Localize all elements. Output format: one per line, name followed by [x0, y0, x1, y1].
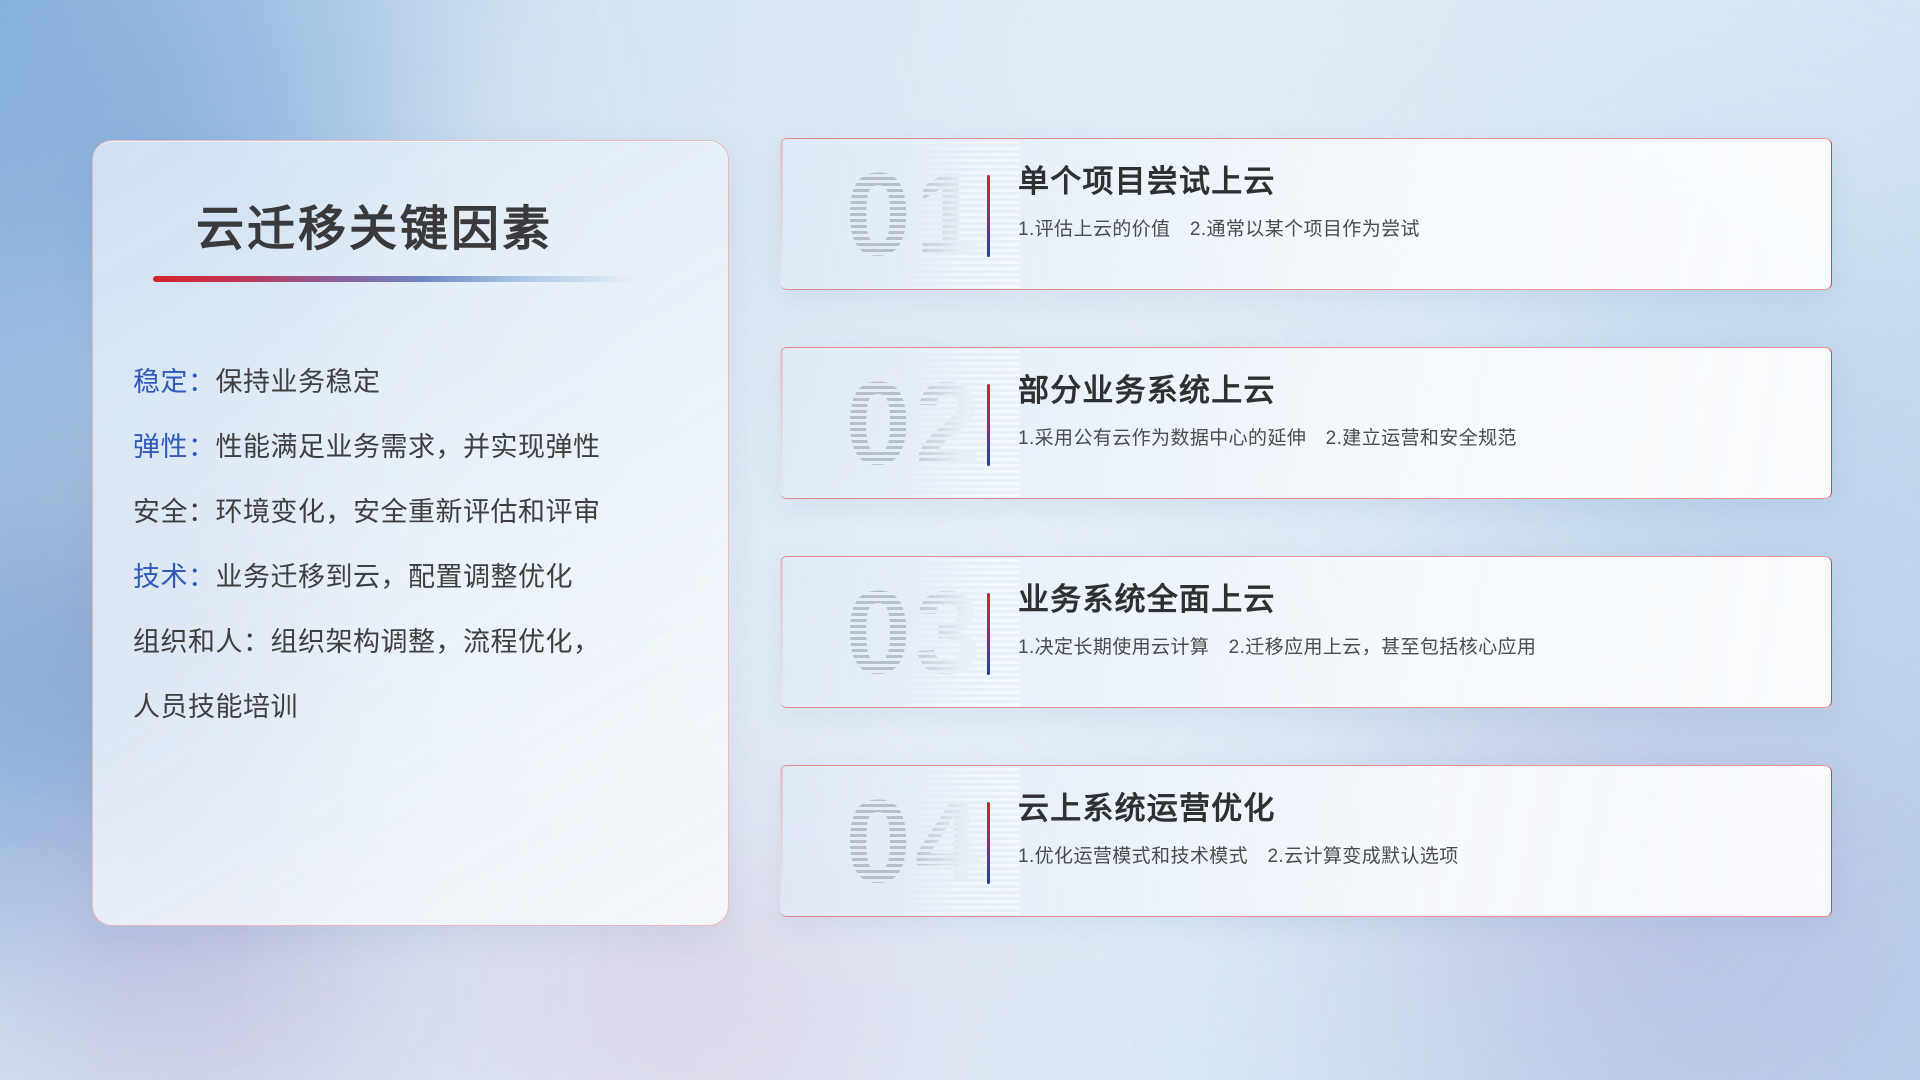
factor-value: 性能满足业务需求，并实现弹性	[216, 432, 601, 462]
factor-value: 保持业务稳定	[216, 367, 381, 397]
stage-title: 云上系统运营优化	[1018, 790, 1811, 827]
factor-value: 组织架构调整，流程优化，	[271, 627, 601, 657]
factor-item: 人员技能培训	[133, 694, 704, 721]
factor-label: 稳定：	[133, 367, 216, 397]
factor-label: 安全：	[133, 497, 216, 527]
slide-canvas: 云迁移关键因素 稳定：保持业务稳定弹性：性能满足业务需求，并实现弹性安全：环境变…	[0, 0, 1920, 1080]
stage-title: 业务系统全面上云	[1018, 581, 1811, 618]
stage-card-list: 01单个项目尝试上云1.评估上云的价值 2.通常以某个项目作为尝试02部分业务系…	[780, 138, 1832, 974]
key-factors-panel: 云迁移关键因素 稳定：保持业务稳定弹性：性能满足业务需求，并实现弹性安全：环境变…	[92, 140, 729, 926]
factor-item: 稳定：保持业务稳定	[133, 369, 704, 396]
stage-subtitle: 1.评估上云的价值 2.通常以某个项目作为尝试	[1018, 214, 1811, 241]
stage-title: 部分业务系统上云	[1018, 372, 1811, 409]
factor-label: 组织和人：	[133, 627, 271, 657]
key-factors-list: 稳定：保持业务稳定弹性：性能满足业务需求，并实现弹性安全：环境变化，安全重新评估…	[133, 369, 704, 751]
stage-subtitle: 1.优化运营模式和技术模式 2.云计算变成默认选项	[1018, 841, 1811, 868]
stage-text-block: 部分业务系统上云1.采用公有云作为数据中心的延伸 2.建立运营和安全规范	[1018, 372, 1811, 450]
factor-label: 弹性：	[133, 432, 216, 462]
factor-item: 组织和人：组织架构调整，流程优化，	[133, 629, 704, 656]
factor-value: 环境变化，安全重新评估和评审	[216, 497, 601, 527]
factor-value: 业务迁移到云，配置调整优化	[216, 562, 574, 592]
stage-card[interactable]: 01单个项目尝试上云1.评估上云的价值 2.通常以某个项目作为尝试	[780, 138, 1832, 290]
stage-text-block: 云上系统运营优化1.优化运营模式和技术模式 2.云计算变成默认选项	[1018, 790, 1811, 868]
stage-title: 单个项目尝试上云	[1018, 163, 1811, 200]
factor-value: 人员技能培训	[133, 692, 298, 722]
factor-item: 安全：环境变化，安全重新评估和评审	[133, 499, 704, 526]
panel-title: 云迁移关键因素	[196, 189, 553, 259]
stage-card[interactable]: 02部分业务系统上云1.采用公有云作为数据中心的延伸 2.建立运营和安全规范	[780, 347, 1832, 499]
factor-item: 技术：业务迁移到云，配置调整优化	[133, 564, 704, 591]
stage-subtitle: 1.决定长期使用云计算 2.迁移应用上云，甚至包括核心应用	[1018, 632, 1811, 659]
factor-item: 弹性：性能满足业务需求，并实现弹性	[133, 434, 704, 461]
stage-text-block: 单个项目尝试上云1.评估上云的价值 2.通常以某个项目作为尝试	[1018, 163, 1811, 241]
stage-subtitle: 1.采用公有云作为数据中心的延伸 2.建立运营和安全规范	[1018, 423, 1811, 450]
stage-card[interactable]: 04云上系统运营优化1.优化运营模式和技术模式 2.云计算变成默认选项	[780, 765, 1832, 917]
stage-divider-bar	[987, 593, 990, 675]
stage-card[interactable]: 03业务系统全面上云1.决定长期使用云计算 2.迁移应用上云，甚至包括核心应用	[780, 556, 1832, 708]
stage-divider-bar	[987, 802, 990, 884]
stage-divider-bar	[987, 175, 990, 257]
title-underline-accent	[153, 276, 633, 282]
stage-text-block: 业务系统全面上云1.决定长期使用云计算 2.迁移应用上云，甚至包括核心应用	[1018, 581, 1811, 659]
stage-divider-bar	[987, 384, 990, 466]
factor-label: 技术：	[133, 562, 216, 592]
